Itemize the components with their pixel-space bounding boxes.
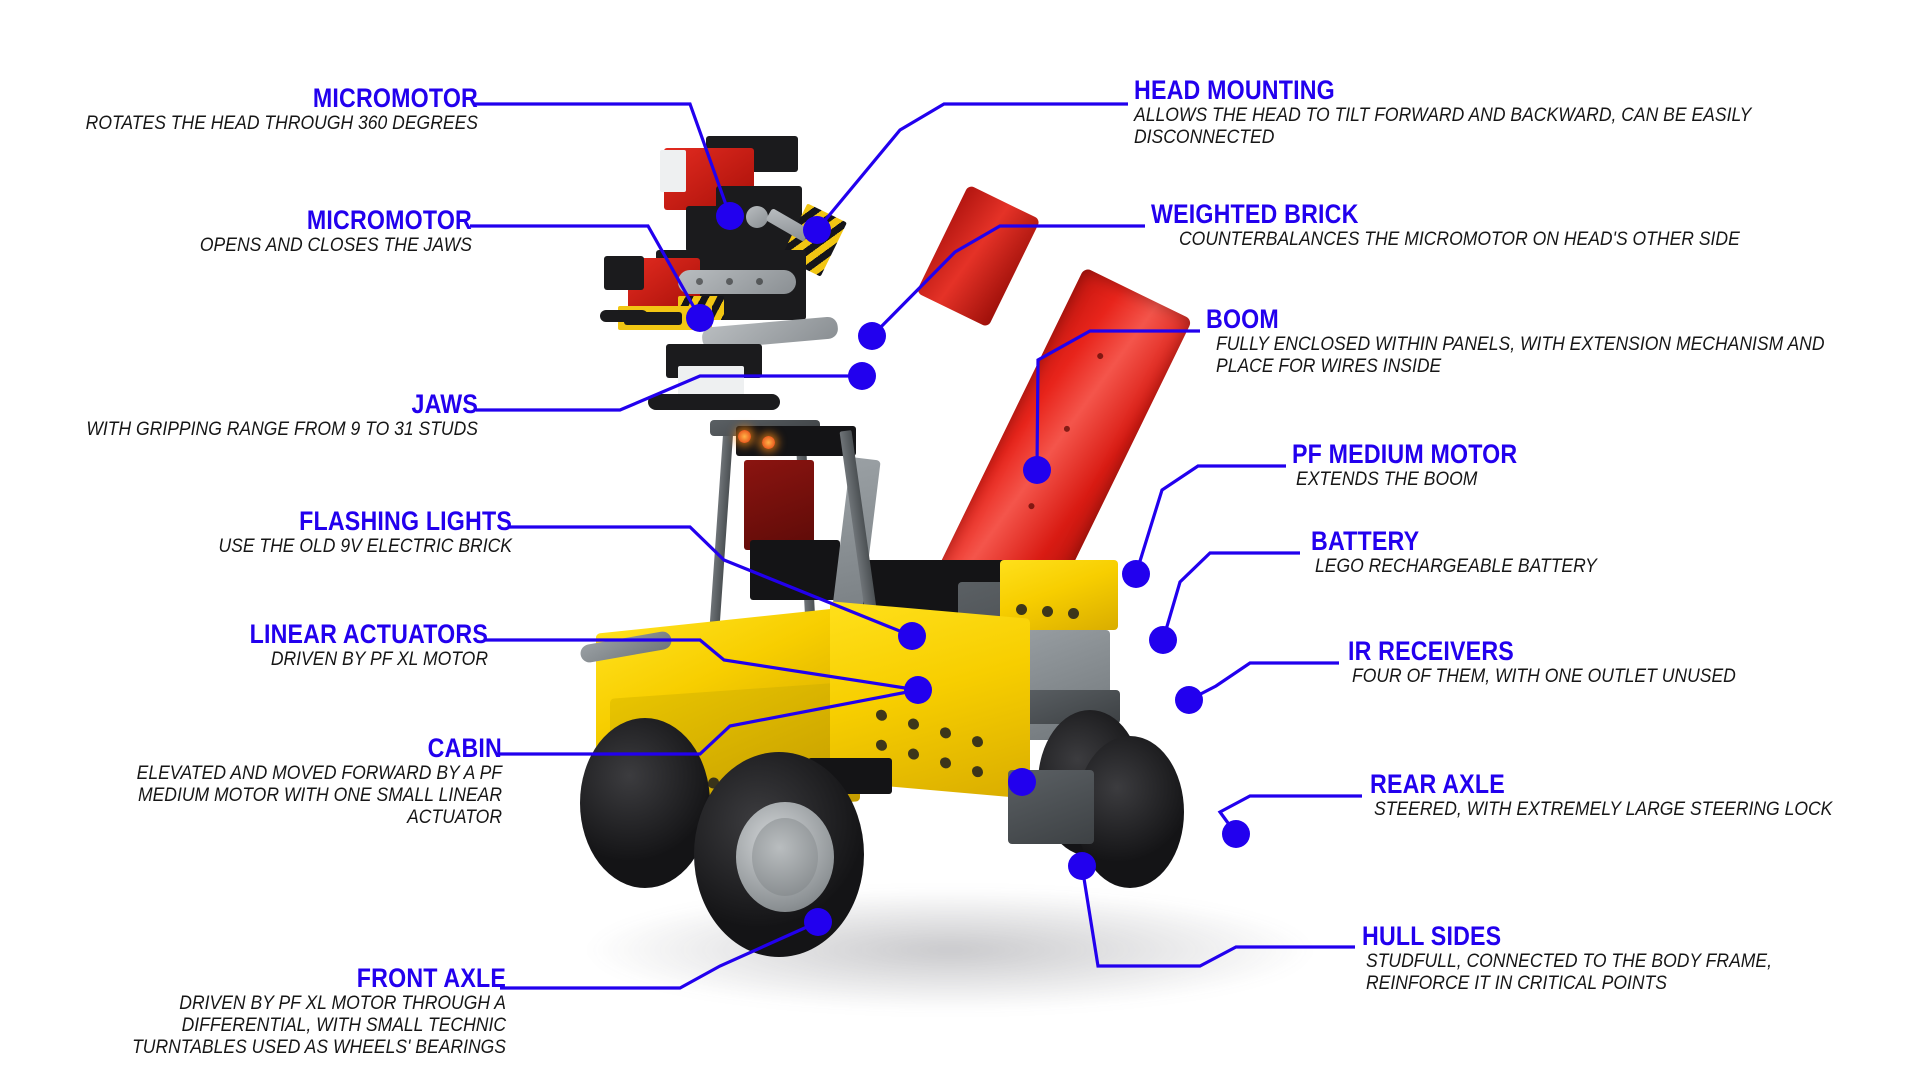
callout-description: COUNTERBALANCES THE MICROMOTOR ON HEAD'S…: [1179, 228, 1838, 250]
callout-ir-receivers: IR RECEIVERS FOUR OF THEM, WITH ONE OUTL…: [1348, 637, 1918, 687]
callout-description: USE THE OLD 9V ELECTRIC BRICK: [51, 535, 512, 557]
head-side-axle: [600, 310, 648, 322]
callout-title: MICROMOTOR: [66, 206, 472, 234]
rear-axle-housing: [1008, 770, 1094, 844]
callout-description: ALLOWS THE HEAD TO TILT FORWARD AND BACK…: [1134, 104, 1818, 148]
callout-description: DRIVEN BY PF XL MOTOR THROUGH A DIFFEREN…: [69, 992, 506, 1058]
callout-description: EXTENDS THE BOOM: [1296, 468, 1850, 490]
callout-description: ROTATES THE HEAD THROUGH 360 DEGREES: [48, 112, 478, 134]
callout-description: STEERED, WITH EXTREMELY LARGE STEERING L…: [1374, 798, 1864, 820]
front-wheel-far: [580, 718, 710, 888]
callout-description: LEGO RECHARGEABLE BATTERY: [1315, 555, 1851, 577]
callout-front-axle: FRONT AXLE DRIVEN BY PF XL MOTOR THROUGH…: [0, 964, 506, 1058]
head-sticker: [660, 150, 686, 192]
callout-title: WEIGHTED BRICK: [1151, 200, 1805, 228]
callout-title: CABIN: [70, 734, 502, 762]
callout-description: STUDFULL, CONNECTED TO THE BODY FRAME, R…: [1366, 950, 1852, 994]
callout-head-mounting: HEAD MOUNTING ALLOWS THE HEAD TO TILT FO…: [1134, 76, 1914, 148]
callout-description: FOUR OF THEM, WITH ONE OUTLET UNUSED: [1352, 665, 1861, 687]
callout-weighted-brick: WEIGHTED BRICK COUNTERBALANCES THE MICRO…: [1151, 200, 1911, 250]
callout-title: PF MEDIUM MOTOR: [1292, 440, 1825, 468]
cabin-roof-studs: [736, 426, 856, 456]
head-pivot-pin: [746, 206, 768, 228]
flashing-light-b: [762, 436, 775, 449]
callout-description: OPENS AND CLOSES THE JAWS: [47, 234, 472, 256]
callout-title: LINEAR ACTUATORS: [68, 620, 488, 648]
callout-title: HULL SIDES: [1362, 922, 1840, 950]
callout-jaws: JAWS WITH GRIPPING RANGE FROM 9 TO 31 ST…: [0, 390, 478, 440]
callout-title: BATTERY: [1311, 527, 1827, 555]
callout-title: REAR AXLE: [1370, 770, 1841, 798]
callout-title: MICROMOTOR: [67, 84, 478, 112]
cabin-base: [750, 540, 840, 600]
callout-micromotor-head: MICROMOTOR ROTATES THE HEAD THROUGH 360 …: [0, 84, 478, 134]
callout-description: DRIVEN BY PF XL MOTOR: [49, 648, 488, 670]
cabin-seat: [744, 460, 814, 550]
callout-linear-actuators: LINEAR ACTUATORS DRIVEN BY PF XL MOTOR: [0, 620, 488, 670]
callout-description: WITH GRIPPING RANGE FROM 9 TO 31 STUDS: [48, 418, 478, 440]
callout-title: IR RECEIVERS: [1348, 637, 1838, 665]
ground-shadow: [590, 890, 1310, 1010]
head-liftarm: [678, 270, 796, 294]
front-wheel-hub: [752, 818, 818, 896]
callout-micromotor-jaws: MICROMOTOR OPENS AND CLOSES THE JAWS: [0, 206, 472, 256]
callout-description: ELEVATED AND MOVED FORWARD BY A PF MEDIU…: [79, 762, 502, 828]
callout-title: HEAD MOUNTING: [1134, 76, 1805, 104]
head-rear-beam: [604, 256, 644, 290]
callout-description: FULLY ENCLOSED WITHIN PANELS, WITH EXTEN…: [1216, 333, 1837, 377]
callout-pf-medium-motor: PF MEDIUM MOTOR EXTENDS THE BOOM: [1292, 440, 1912, 490]
callout-cabin: CABIN ELEVATED AND MOVED FORWARD BY A PF…: [0, 734, 502, 828]
callout-hull-sides: HULL SIDES STUDFULL, CONNECTED TO THE BO…: [1362, 922, 1918, 994]
flashing-light-a: [738, 430, 751, 443]
callout-title: FRONT AXLE: [71, 964, 506, 992]
callout-battery: BATTERY LEGO RECHARGEABLE BATTERY: [1311, 527, 1911, 577]
jaw-lower: [648, 394, 780, 410]
callout-flashing-lights: FLASHING LIGHTS USE THE OLD 9V ELECTRIC …: [0, 507, 512, 557]
annotated-photo-canvas: MICROMOTOR ROTATES THE HEAD THROUGH 360 …: [0, 0, 1920, 1080]
cabin-mast-left: [709, 430, 734, 640]
callout-title: JAWS: [67, 390, 478, 418]
callout-rear-axle: REAR AXLE STEERED, WITH EXTREMELY LARGE …: [1370, 770, 1918, 820]
callout-title: BOOM: [1206, 305, 1808, 333]
boom-extension: [916, 185, 1041, 328]
callout-boom: BOOM FULLY ENCLOSED WITHIN PANELS, WITH …: [1206, 305, 1906, 377]
callout-title: FLASHING LIGHTS: [72, 507, 512, 535]
